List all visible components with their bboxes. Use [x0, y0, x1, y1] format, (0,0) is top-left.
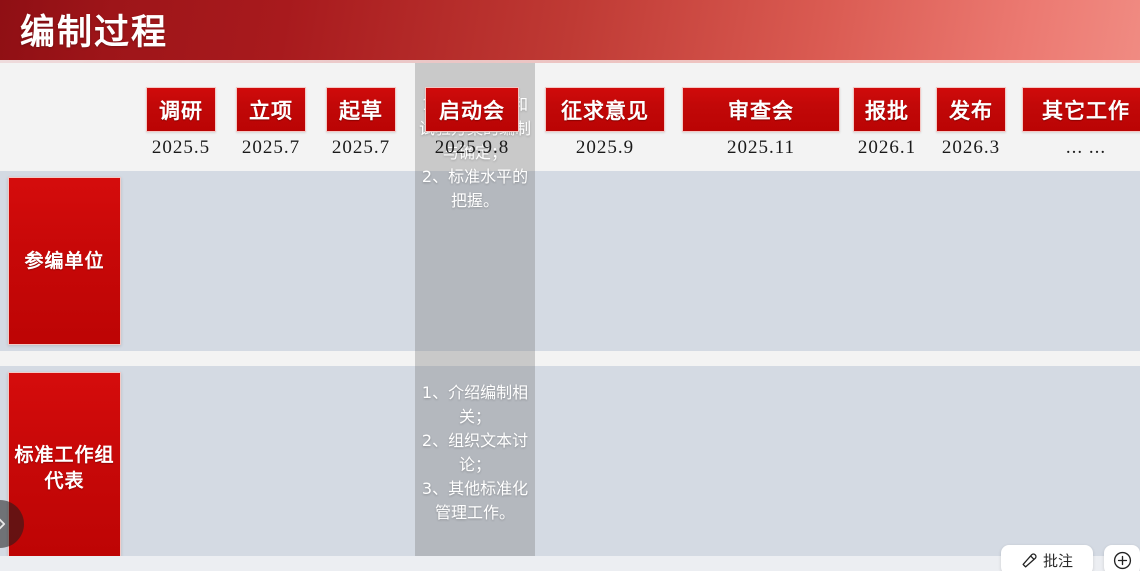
timeline-stage-card: 审查会: [682, 87, 840, 132]
row-label-text: 参编单位: [24, 248, 104, 274]
bottom-toolbar: [0, 556, 1140, 571]
timeline-stage-date: 2025.7: [326, 137, 396, 159]
timeline-stage[interactable]: 报批2026.1: [853, 63, 921, 168]
timeline-stage-label: 其它工作: [1042, 95, 1130, 125]
timeline-stage[interactable]: 发布2026.3: [936, 63, 1006, 168]
timeline-stage-card: 其它工作: [1022, 87, 1140, 132]
timeline-stage-date: 2026.3: [936, 137, 1006, 159]
row-label-text: 标准工作组代表: [9, 442, 120, 494]
plus-circle-icon: [1113, 551, 1132, 570]
annotate-button[interactable]: 批注: [1001, 545, 1093, 571]
row-label-participating-units: 参编单位: [8, 177, 121, 345]
add-button[interactable]: [1104, 545, 1140, 571]
timeline-stage[interactable]: 起草2025.7: [326, 63, 396, 168]
timeline-stage-date: 2025.9.8: [425, 137, 519, 159]
timeline-stage[interactable]: 征求意见2025.9: [545, 63, 665, 168]
timeline-stage[interactable]: 其它工作... ...: [1022, 63, 1140, 168]
timeline-stage-date: 2026.1: [853, 137, 921, 159]
timeline-header: 调研2025.5立项2025.7起草2025.7启动会2025.9.8征求意见2…: [0, 63, 1140, 168]
timeline-stage-label: 报批: [865, 95, 909, 125]
timeline-stage-label: 立项: [249, 95, 293, 125]
timeline-stage-date: 2025.11: [682, 137, 840, 159]
timeline-stage-date: 2025.7: [236, 137, 306, 159]
timeline-stage-label: 审查会: [728, 95, 794, 125]
annotate-button-label: 批注: [1043, 550, 1073, 571]
timeline-stage-date: 2025.5: [146, 137, 216, 159]
timeline-stage-label: 发布: [949, 95, 993, 125]
slide-body: 参编单位 标准工作组代表 1、标准内容和试验方案的编制与确定； 2、标准水平的把…: [0, 63, 1140, 571]
row-label-workgroup-reps: 标准工作组代表: [8, 372, 121, 564]
timeline-stage-card: 起草: [326, 87, 396, 132]
timeline-stage-label: 启动会: [439, 95, 505, 125]
presentation-slide-viewer: 编制过程 参编单位 标准工作组代表 1、标准内容和试验方案的编制与确定； 2、标…: [0, 0, 1140, 571]
timeline-stage-card: 发布: [936, 87, 1006, 132]
timeline-stage-label: 调研: [159, 95, 203, 125]
timeline-stage-card: 报批: [853, 87, 921, 132]
slide-header: 编制过程: [0, 0, 1140, 63]
timeline-stage-card: 立项: [236, 87, 306, 132]
timeline-stage[interactable]: 启动会2025.9.8: [425, 63, 519, 168]
timeline-stage-label: 起草: [339, 95, 383, 125]
timeline-stage[interactable]: 审查会2025.11: [682, 63, 840, 168]
timeline-stage-date: ... ...: [1022, 137, 1140, 159]
timeline-stage[interactable]: 调研2025.5: [146, 63, 216, 168]
chevron-right-icon: [0, 514, 10, 534]
timeline-stage[interactable]: 立项2025.7: [236, 63, 306, 168]
table-row: 标准工作组代表: [0, 366, 1140, 571]
cell-workgroup-reps-kickoff: 1、介绍编制相关； 2、组织文本讨论； 3、其他标准化管理工作。: [418, 381, 532, 525]
timeline-stage-card: 调研: [146, 87, 216, 132]
timeline-stage-date: 2025.9: [545, 137, 665, 159]
timeline-stage-card: 启动会: [425, 87, 519, 132]
timeline-stage-label: 征求意见: [561, 95, 649, 125]
pen-icon: [1021, 552, 1038, 569]
table-row: 参编单位: [0, 171, 1140, 351]
page-title: 编制过程: [20, 4, 168, 55]
timeline-stage-card: 征求意见: [545, 87, 665, 132]
